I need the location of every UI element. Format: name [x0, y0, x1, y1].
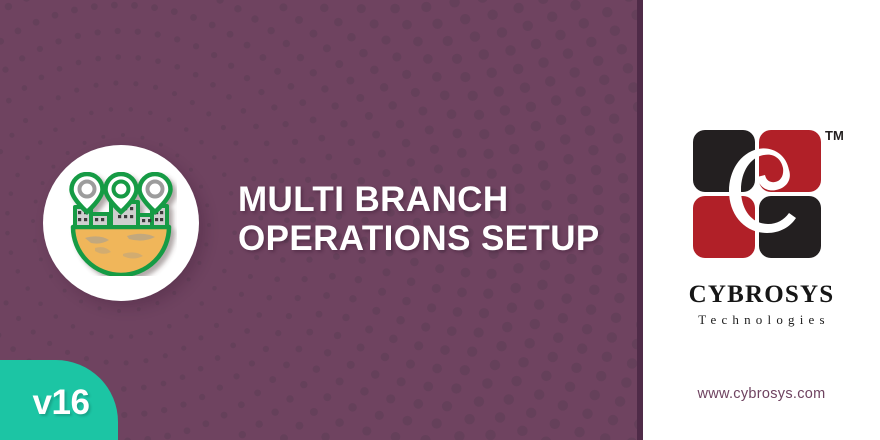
multi-branch-globe-icon	[65, 172, 177, 276]
website-url[interactable]: www.cybrosys.com	[643, 386, 880, 402]
version-badge-label: v16	[29, 377, 90, 423]
trademark-symbol: TM	[825, 128, 844, 143]
left-purple-panel: MULTI BRANCH OPERATIONS SETUP v16	[0, 0, 637, 440]
module-title-line-2: OPERATIONS SETUP	[238, 219, 628, 258]
module-icon-circle	[43, 145, 199, 301]
module-title: MULTI BRANCH OPERATIONS SETUP	[238, 180, 628, 258]
right-white-panel: TM CYBROSYS Technologies www.cybrosys.co…	[643, 0, 880, 440]
module-title-line-1: MULTI BRANCH	[238, 180, 628, 219]
cybrosys-logo: TM	[685, 118, 845, 278]
brand-name: CYBROSYS	[643, 281, 880, 309]
odoo-module-banner: MULTI BRANCH OPERATIONS SETUP v16 TM CYB…	[0, 0, 880, 440]
brand-tagline: Technologies	[643, 312, 880, 328]
